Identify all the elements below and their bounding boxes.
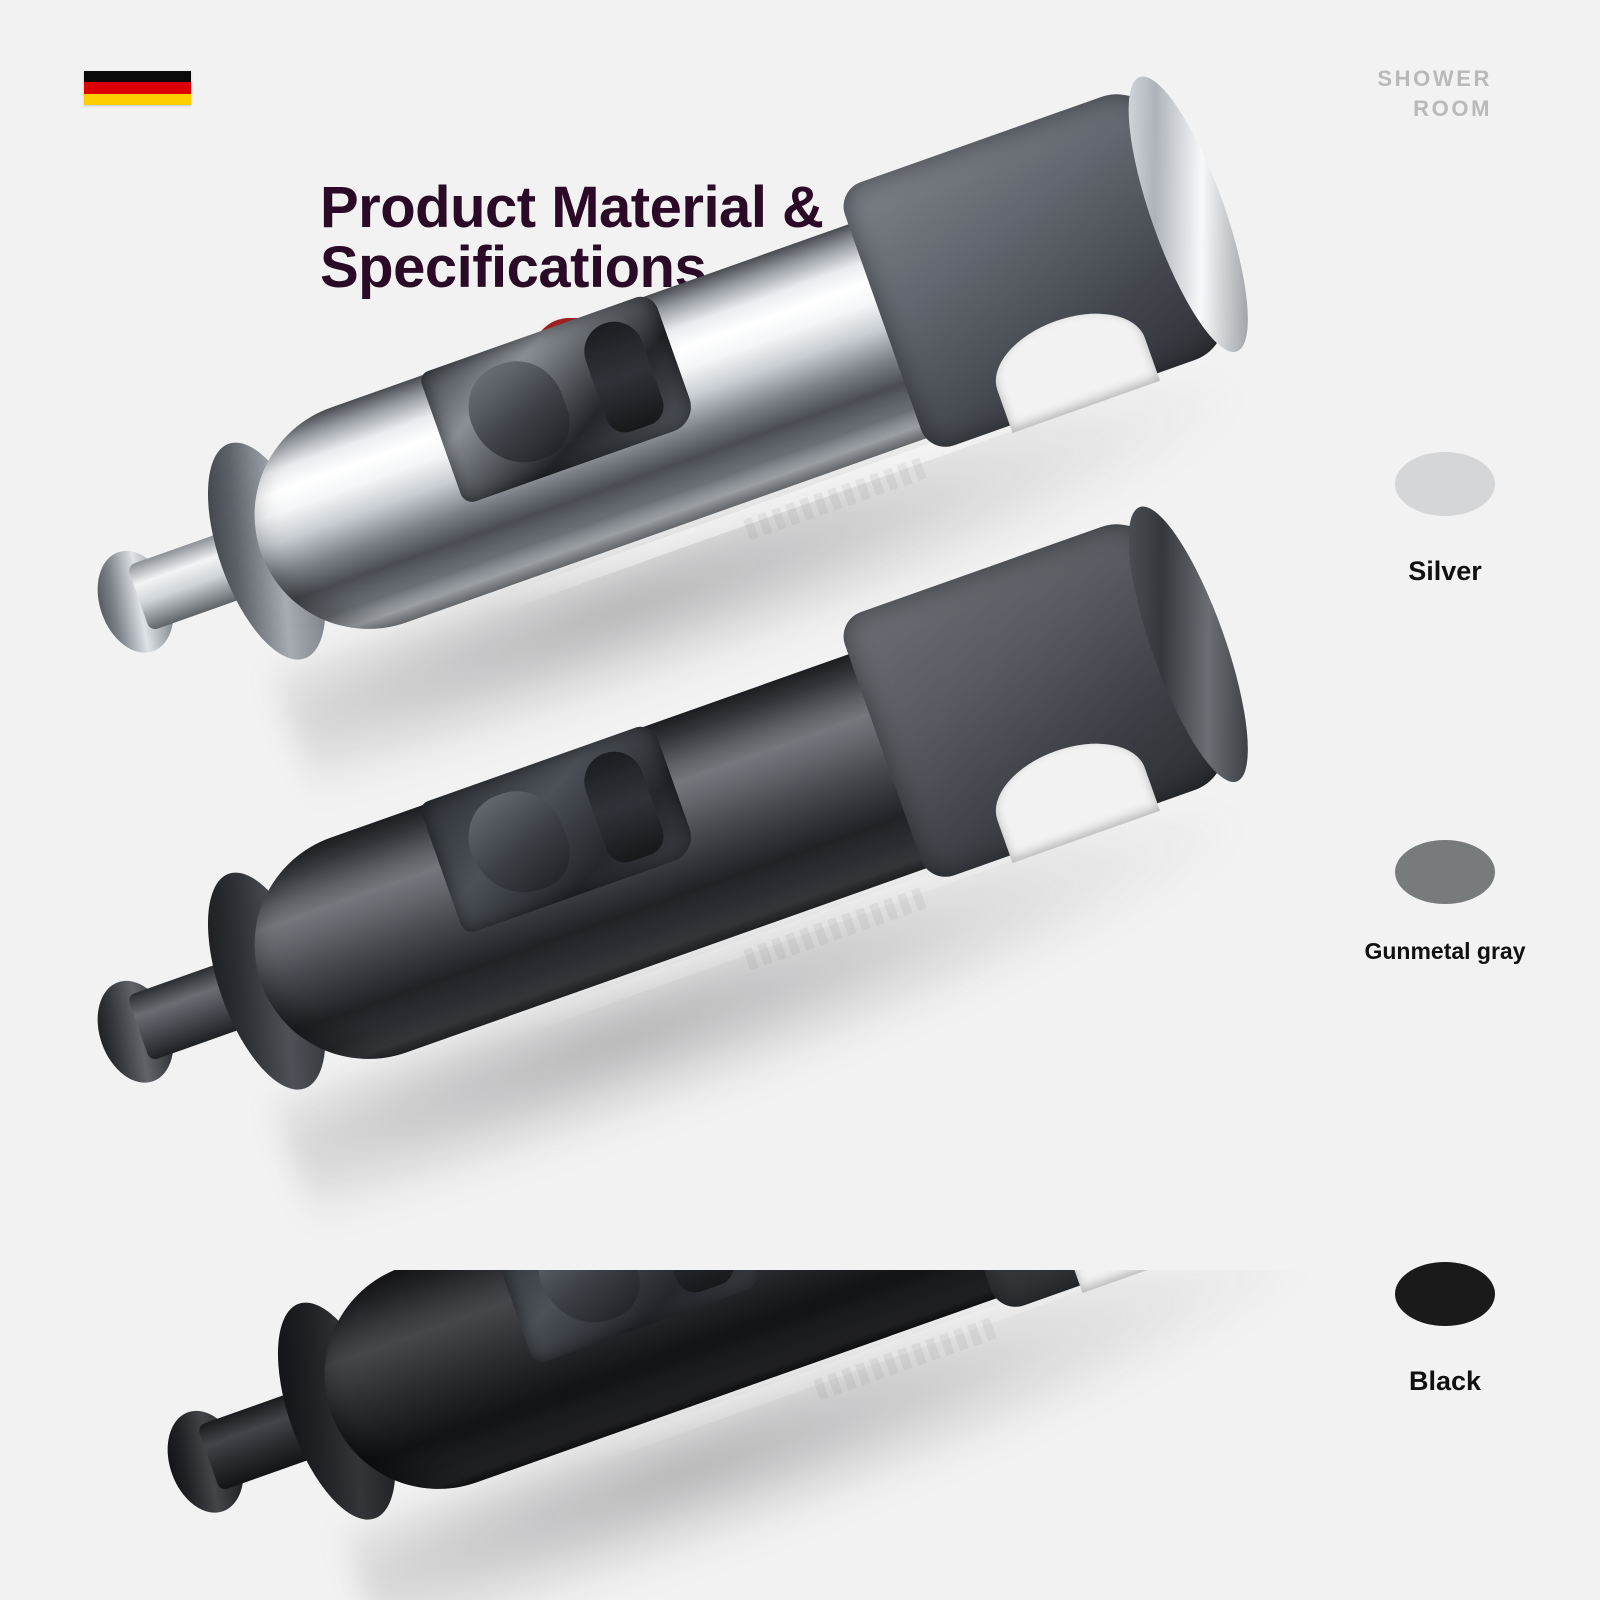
color-swatch-gunmetal-gray[interactable] <box>1395 840 1495 904</box>
product-image-black <box>130 1270 1461 1600</box>
flag-band-gold <box>84 94 191 105</box>
brand-logo: SHOWER ROOM <box>1377 64 1492 123</box>
german-flag-icon <box>84 71 191 105</box>
window-lens <box>456 348 580 477</box>
brand-line-2: ROOM <box>1377 94 1492 124</box>
brand-line-1: SHOWER <box>1377 64 1492 94</box>
window-lens <box>456 778 580 907</box>
color-option-silver[interactable]: Silver <box>1345 452 1545 587</box>
window-slot <box>576 314 669 438</box>
flag-band-black <box>84 71 191 82</box>
window-lens <box>526 1270 650 1337</box>
color-option-gunmetal-gray[interactable]: Gunmetal gray <box>1345 840 1545 965</box>
color-label-silver: Silver <box>1345 556 1545 587</box>
color-swatch-silver[interactable] <box>1395 452 1495 516</box>
color-option-black[interactable]: Black <box>1345 1262 1545 1397</box>
window-slot <box>576 744 669 868</box>
color-swatch-black[interactable] <box>1395 1262 1495 1326</box>
window-slot <box>646 1270 739 1298</box>
color-label-black: Black <box>1345 1366 1545 1397</box>
flag-band-red <box>84 82 191 93</box>
color-label-gunmetal-gray: Gunmetal gray <box>1345 938 1545 965</box>
